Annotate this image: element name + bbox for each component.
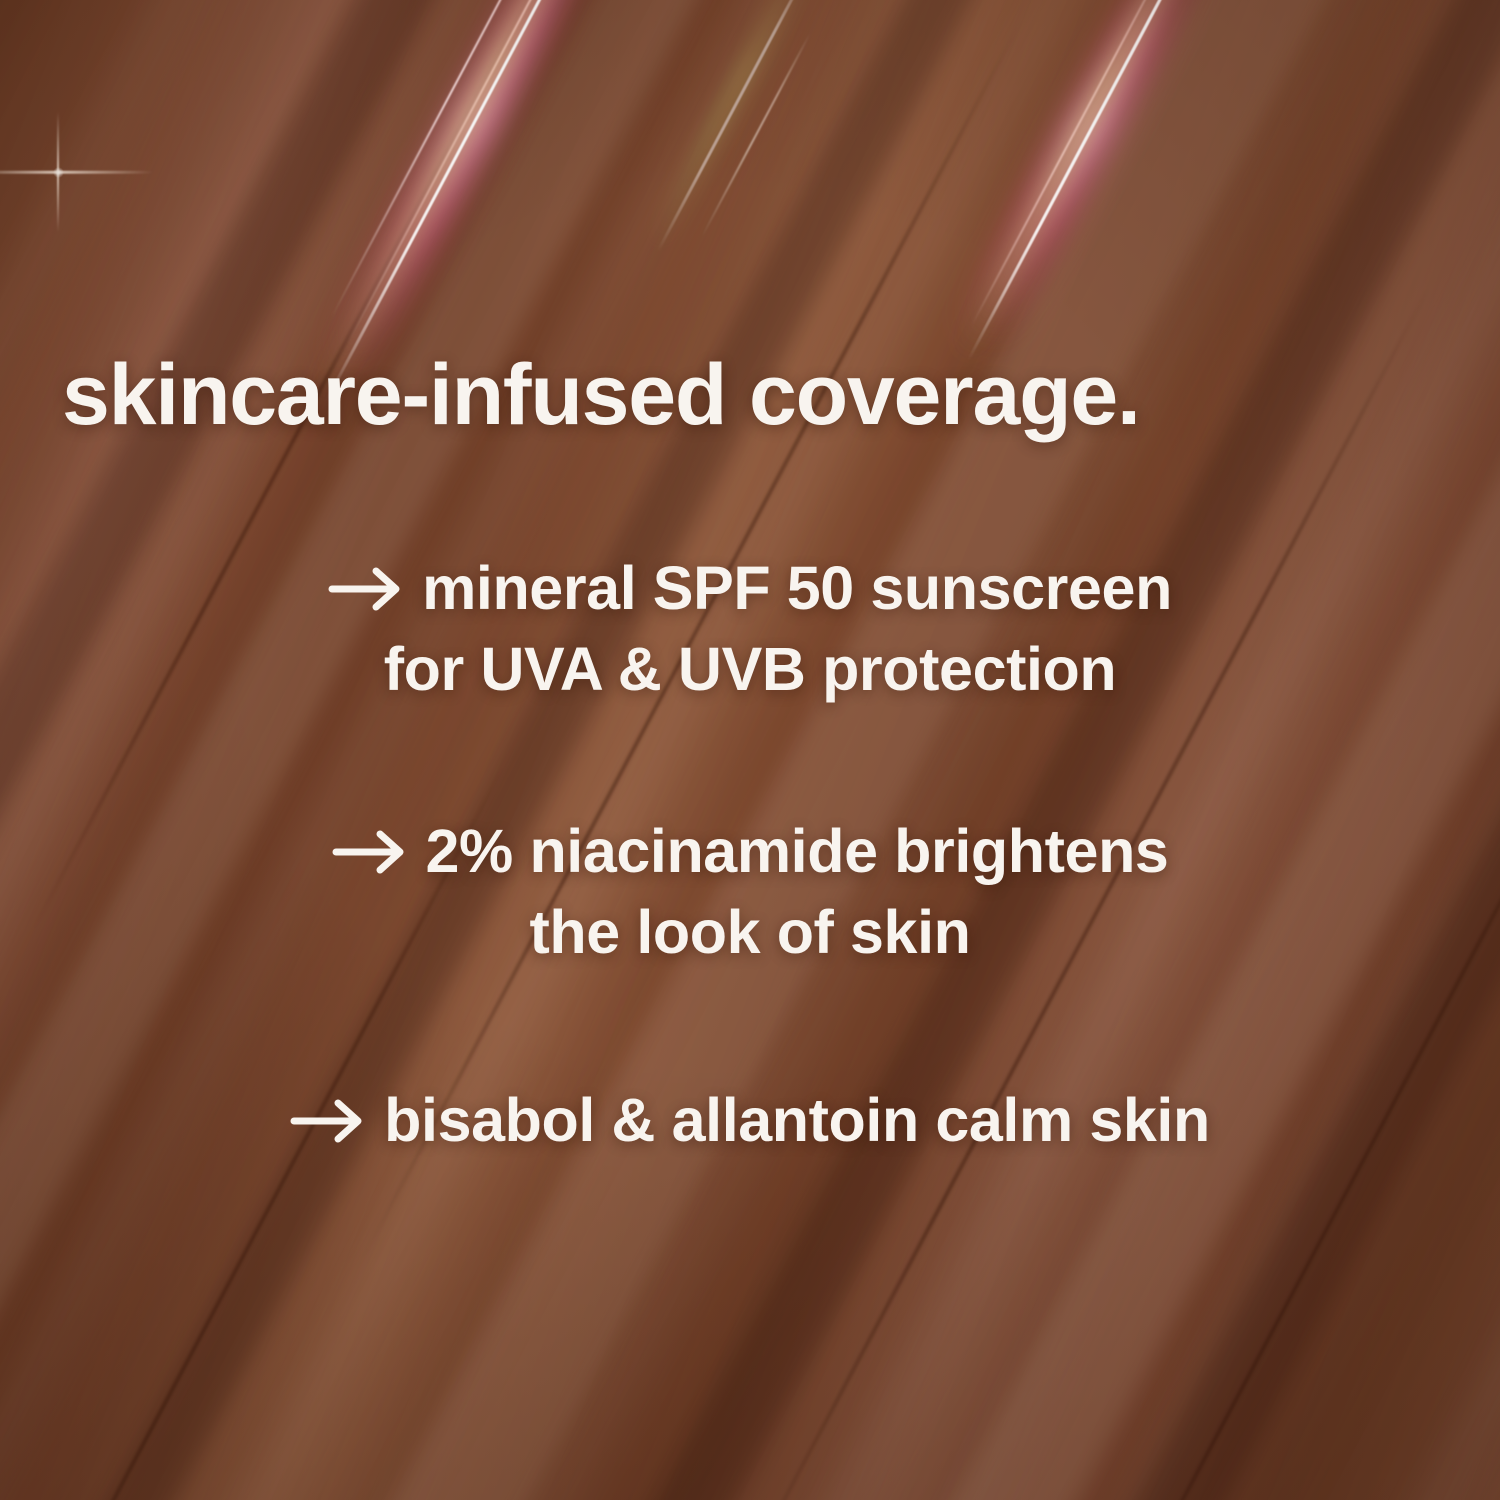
benefit-line: 2% niacinamide brightens	[0, 811, 1500, 892]
promo-image: skincare-infused coverage. mineral SPF 5…	[0, 0, 1500, 1500]
right-arrow-icon	[328, 565, 408, 613]
benefit-line: mineral SPF 50 sunscreen	[0, 548, 1500, 629]
list-item: 2% niacinamide brightens the look of ski…	[0, 811, 1500, 972]
benefit-text: mineral SPF 50 sunscreen	[422, 554, 1172, 622]
benefit-text: for UVA & UVB protection	[0, 629, 1500, 710]
page-title: skincare-infused coverage.	[62, 352, 1140, 438]
list-item: bisabol & allantoin calm skin	[0, 1080, 1500, 1161]
benefit-text: bisabol & allantoin calm skin	[384, 1086, 1210, 1154]
right-arrow-icon	[290, 1097, 370, 1145]
benefit-list: mineral SPF 50 sunscreen for UVA & UVB p…	[0, 548, 1500, 1161]
list-item: mineral SPF 50 sunscreen for UVA & UVB p…	[0, 548, 1500, 709]
right-arrow-icon	[332, 828, 412, 876]
benefit-line: bisabol & allantoin calm skin	[0, 1080, 1500, 1161]
text-content: skincare-infused coverage. mineral SPF 5…	[0, 0, 1500, 1500]
benefit-text: the look of skin	[0, 892, 1500, 973]
benefit-text: 2% niacinamide brightens	[426, 817, 1169, 885]
